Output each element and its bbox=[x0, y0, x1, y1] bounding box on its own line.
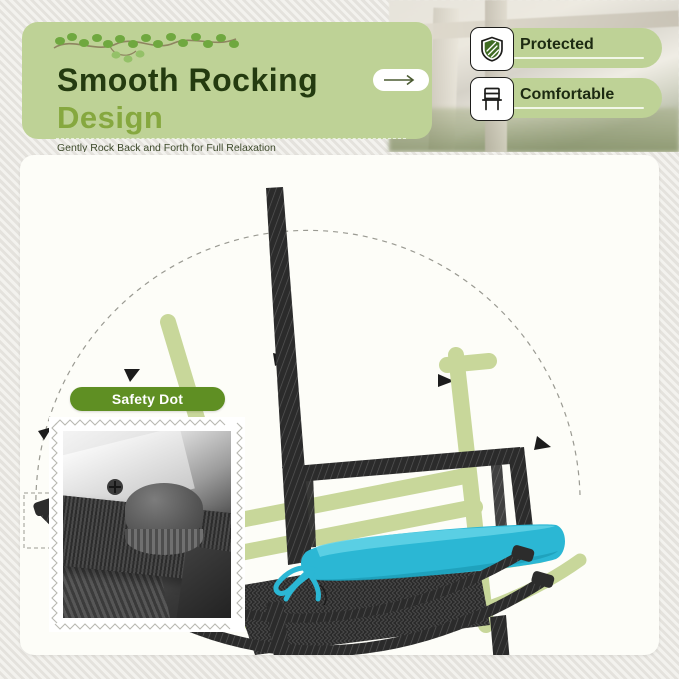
page-subtitle: Gently Rock Back and Forth for Full Rela… bbox=[57, 142, 276, 152]
stamp-frame bbox=[49, 417, 245, 632]
title-panel: Smooth Rocking Design Gently Rock Back a… bbox=[22, 22, 432, 139]
page-title-line1: Smooth Rocking bbox=[57, 62, 318, 99]
next-arrow-button[interactable] bbox=[373, 69, 429, 91]
feature-badge-list: Protected bbox=[470, 27, 670, 127]
photo-arm-end-cap bbox=[176, 545, 231, 618]
badge-label: Protected bbox=[520, 36, 594, 54]
safety-dot-label-pill: Safety Dot bbox=[70, 387, 225, 411]
arrow-right-icon bbox=[382, 74, 420, 86]
badge-comfortable[interactable]: Comfortable bbox=[470, 77, 670, 119]
badge-label: Comfortable bbox=[520, 86, 614, 104]
product-illustration-card: Safety Dot bbox=[20, 155, 659, 655]
badge-protected[interactable]: Protected bbox=[470, 27, 670, 69]
safety-dot-label: Safety Dot bbox=[112, 391, 183, 407]
header-banner: Smooth Rocking Design Gently Rock Back a… bbox=[0, 0, 679, 152]
badge-underline bbox=[514, 107, 644, 109]
infographic-canvas: Smooth Rocking Design Gently Rock Back a… bbox=[0, 0, 679, 679]
page-title-line2: Design bbox=[57, 100, 163, 136]
header-divider bbox=[56, 138, 406, 139]
chair-back-leg bbox=[490, 615, 514, 655]
shield-icon bbox=[470, 27, 514, 71]
vine-leaves-icon bbox=[50, 30, 240, 64]
photo-screw bbox=[107, 479, 123, 495]
badge-underline bbox=[514, 57, 644, 59]
chair-icon bbox=[470, 77, 514, 121]
safety-dot-photo bbox=[63, 431, 231, 618]
safety-dot-knob bbox=[125, 483, 203, 543]
safety-dot-inset: Safety Dot bbox=[42, 387, 252, 642]
chair-armrest-top bbox=[282, 447, 523, 483]
